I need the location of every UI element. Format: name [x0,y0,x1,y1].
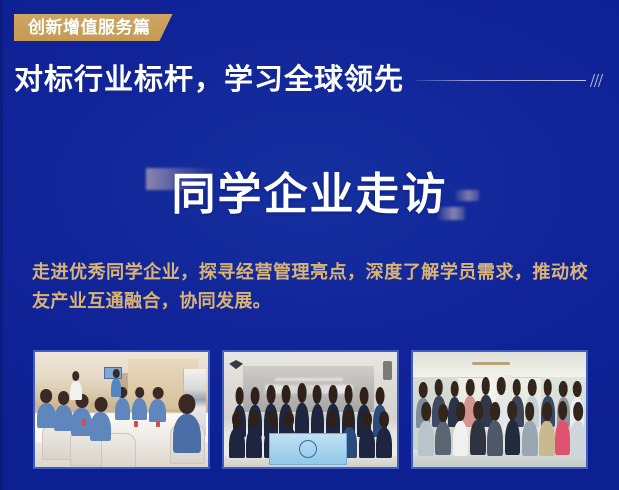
photo-meeting-room-image [35,352,208,467]
section-title: 同学企业走访 [0,156,619,234]
photo-group-lobby[interactable]: 企业大堂学员合影 [411,350,588,469]
photo-meeting-room[interactable]: 同学企业会议室座谈交流 [33,350,210,469]
section-badge: 创新增值服务篇 [14,14,173,41]
tick-mark-3-icon [598,74,603,87]
photo-group-team[interactable]: 企业团队合影（横幅合影） [222,350,399,469]
left-edge-strip [0,0,3,490]
section-badge-label: 创新增值服务篇 [28,19,151,36]
poster-canvas: 创新增值服务篇 对标行业标杆，学习全球领先 同学企业走访 走进优秀同学企业，探寻… [0,0,619,490]
headline-text: 对标行业标杆，学习全球领先 [14,66,404,95]
photo-group-team-image [224,352,397,467]
headline-row: 对标行业标杆，学习全球领先 [14,60,609,100]
headline-tick-marks-icon [592,74,601,87]
body-paragraph: 走进优秀同学企业，探寻经营管理亮点，深度了解学员需求，推动校友产业互通融合，协同… [32,258,588,316]
headline-rule-line [416,80,586,81]
section-title-wrapper: 同学企业走访 [0,156,619,234]
photo-group-lobby-image [413,352,586,467]
photo-strip: 同学企业会议室座谈交流 [33,350,588,469]
